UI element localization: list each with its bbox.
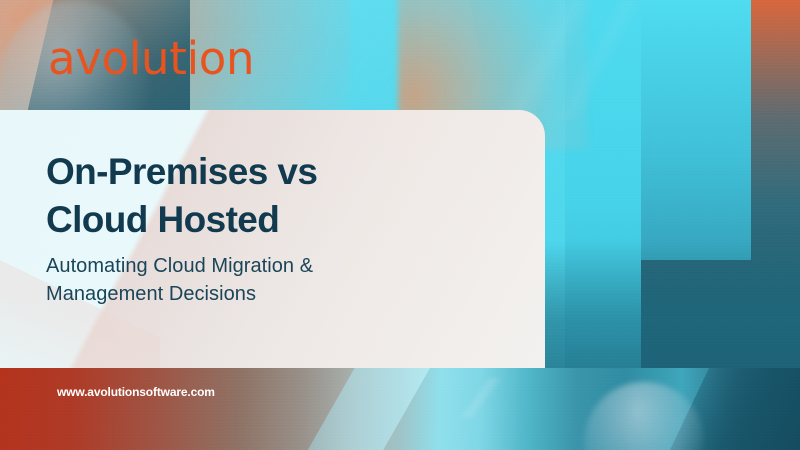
- footer-light-curve: [584, 382, 704, 450]
- title-slide: avolution On-Premises vs Cloud Hosted Au…: [0, 0, 800, 450]
- footer-website-url[interactable]: www.avolutionsoftware.com: [57, 386, 215, 398]
- slide-subtitle-line-2: Management Decisions: [46, 280, 446, 308]
- slide-title-line-1: On-Premises vs: [46, 148, 446, 196]
- footer-light-diagonal: [300, 368, 430, 450]
- slide-subtitle-line-1: Automating Cloud Migration &: [46, 252, 446, 280]
- background-ghost-streaks: [430, 0, 660, 120]
- footer-band-shapes: [0, 368, 800, 450]
- footer-faint-mark: [452, 378, 512, 418]
- slide-subtitle: Automating Cloud Migration & Management …: [46, 252, 446, 309]
- footer-band: [0, 368, 800, 450]
- slide-title: On-Premises vs Cloud Hosted: [46, 148, 446, 245]
- slide-title-line-2: Cloud Hosted: [46, 196, 446, 244]
- avolution-logo: avolution: [48, 36, 254, 81]
